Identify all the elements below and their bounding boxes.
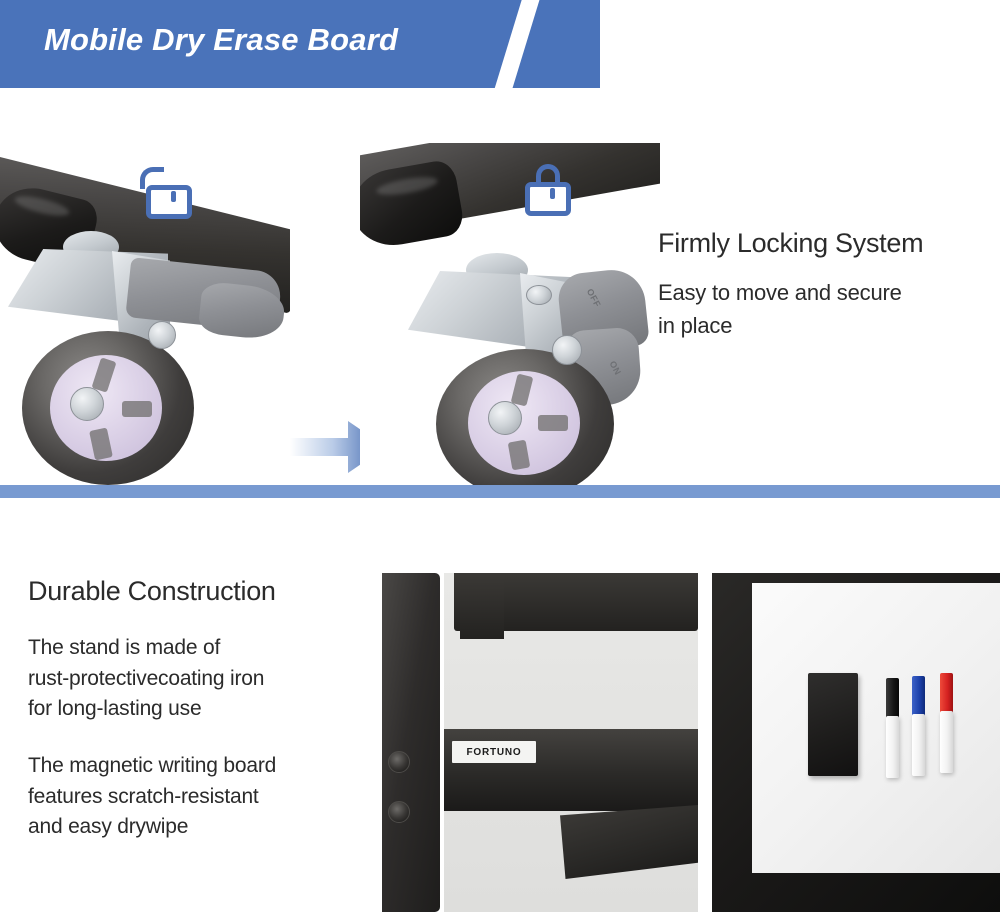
- marker-barrel: [940, 711, 953, 773]
- locking-headline: Firmly Locking System: [658, 228, 994, 259]
- paragraph-2-line-2: features scratch-resistant: [28, 782, 378, 813]
- construction-headline: Durable Construction: [28, 576, 378, 607]
- brand-label-text: FORTUNO: [466, 747, 521, 758]
- hub-spoke: [122, 401, 152, 417]
- locking-system-section: OFF ON Firmly Locking System Easy to mov…: [0, 88, 1000, 485]
- marker-blue: [912, 676, 925, 776]
- stand-frame-photo: FORTUNO: [382, 573, 698, 912]
- board-top-frame-inner: [460, 573, 504, 639]
- locking-body-line-2: in place: [658, 310, 994, 343]
- marker-black: [886, 678, 899, 778]
- paragraph-2-line-1: The magnetic writing board: [28, 751, 378, 782]
- section-divider: [0, 485, 1000, 498]
- wheel-axle-bolt: [70, 387, 104, 421]
- padlock-keyhole: [171, 191, 176, 202]
- brake-pivot-bolt: [148, 321, 176, 349]
- padlock-body: [146, 185, 192, 219]
- brake-pivot-bolt: [552, 335, 582, 365]
- padlock-keyhole: [550, 188, 555, 199]
- fork-rivet: [526, 285, 552, 305]
- durable-construction-section: Durable Construction The stand is made o…: [0, 498, 1000, 912]
- whiteboard-accessories-photo: [712, 573, 1000, 912]
- marker-cap: [940, 673, 953, 713]
- frame-bolt-hole: [388, 751, 410, 773]
- locking-body: Easy to move and secure in place: [658, 277, 994, 342]
- marker-barrel: [886, 716, 899, 778]
- whiteboard-surface: [752, 583, 1000, 873]
- brand-label: FORTUNO: [452, 741, 536, 763]
- construction-paragraph-2: The magnetic writing board features scra…: [28, 751, 378, 843]
- locking-body-line-1: Easy to move and secure: [658, 277, 994, 310]
- stand-vertical-post: [382, 573, 440, 912]
- paragraph-1-line-3: for long-lasting use: [28, 694, 378, 725]
- frame-bolt-hole: [388, 801, 410, 823]
- locking-system-copy: Firmly Locking System Easy to move and s…: [658, 228, 994, 342]
- paragraph-1-line-1: The stand is made of: [28, 633, 378, 664]
- marker-barrel: [912, 714, 925, 776]
- wheel-axle-bolt: [488, 401, 522, 435]
- paragraph-1-line-2: rust-protectivecoating iron: [28, 664, 378, 695]
- leg-end-cap: [360, 158, 466, 252]
- padlock-unlocked-icon: [146, 161, 192, 219]
- marker-cap: [912, 676, 925, 716]
- hub-spoke: [538, 415, 568, 431]
- padlock-locked-icon: [525, 158, 571, 216]
- marker-red: [940, 673, 953, 773]
- banner-slash-decoration: [491, 0, 542, 88]
- page-title: Mobile Dry Erase Board: [44, 22, 398, 58]
- padlock-body: [525, 182, 571, 216]
- durable-construction-copy: Durable Construction The stand is made o…: [28, 576, 378, 843]
- caster-locked-photo: OFF ON: [360, 143, 660, 485]
- whiteboard-eraser: [808, 673, 858, 776]
- caster-unlocked-photo: [0, 143, 290, 485]
- marker-cap: [886, 678, 899, 718]
- paragraph-2-line-3: and easy drywipe: [28, 812, 378, 843]
- construction-paragraph-1: The stand is made of rust-protectivecoat…: [28, 633, 378, 725]
- header-banner: Mobile Dry Erase Board: [0, 0, 600, 88]
